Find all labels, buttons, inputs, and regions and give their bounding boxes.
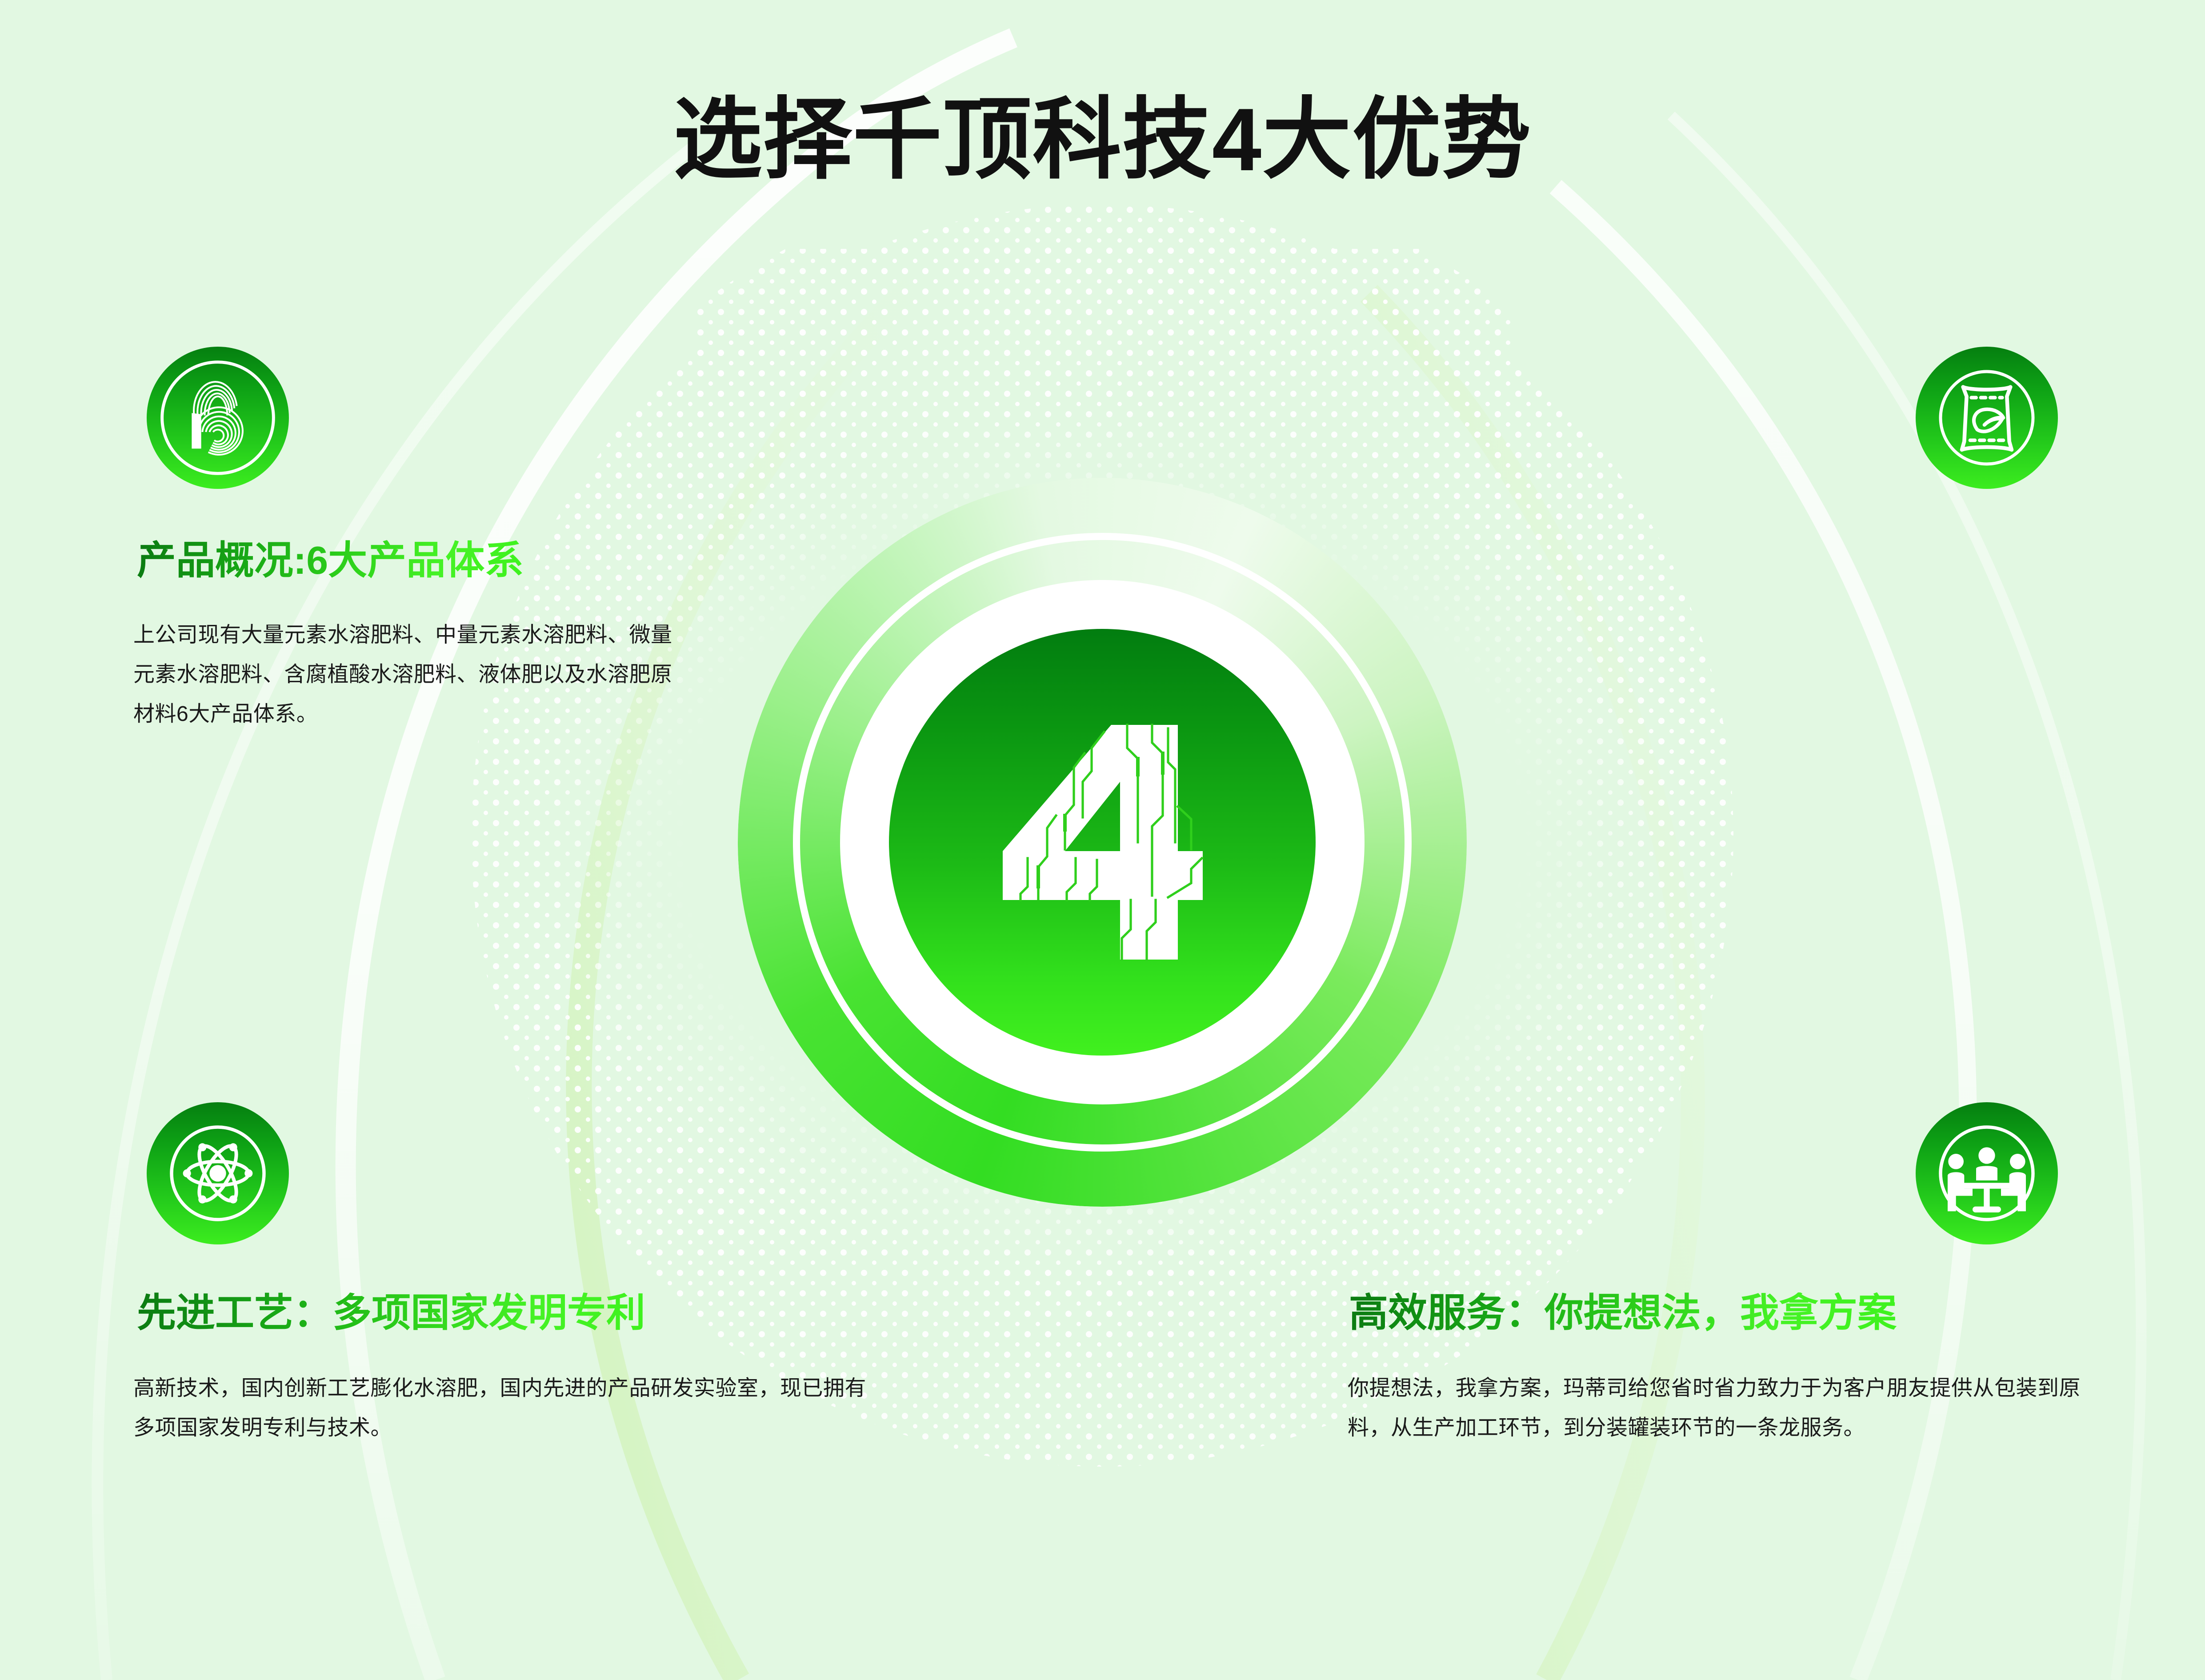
- inner-green-disc: [889, 629, 1316, 1056]
- page-title: 选择千顶科技4大优势: [0, 96, 2205, 184]
- atom-icon: [147, 1102, 289, 1244]
- feature-body-top-left: 上公司现有大量元素水溶肥料、中量元素水溶肥料、微量元素水溶肥料、含腐植酸水溶肥料…: [133, 616, 680, 734]
- feature-heading-bottom-left: 先进工艺：多项国家发明专利: [137, 1292, 645, 1333]
- meeting-people-icon: [1916, 1102, 2058, 1244]
- feature-heading-top-left: 产品概况:6大产品体系: [137, 540, 524, 581]
- feature-heading-bottom-right: 高效服务：你提想法，我拿方案: [1349, 1292, 1897, 1333]
- poster-canvas: 选择千顶科技4大优势: [0, 0, 2205, 1680]
- feature-body-bottom-left: 高新技术，国内创新工艺膨化水溶肥，国内先进的产品研发实验室，现已拥有多项国家发明…: [133, 1369, 880, 1448]
- center-medallion: [729, 469, 1476, 1216]
- feature-body-bottom-right: 你提想法，我拿方案，玛蒂司给您省时省力致力于为客户朋友提供从包装到原料，从生产加…: [1348, 1369, 2094, 1448]
- circuit-four-icon: [978, 709, 1227, 976]
- number-six-rings-icon: [147, 347, 289, 489]
- fertilizer-bag-icon: [1916, 347, 2058, 489]
